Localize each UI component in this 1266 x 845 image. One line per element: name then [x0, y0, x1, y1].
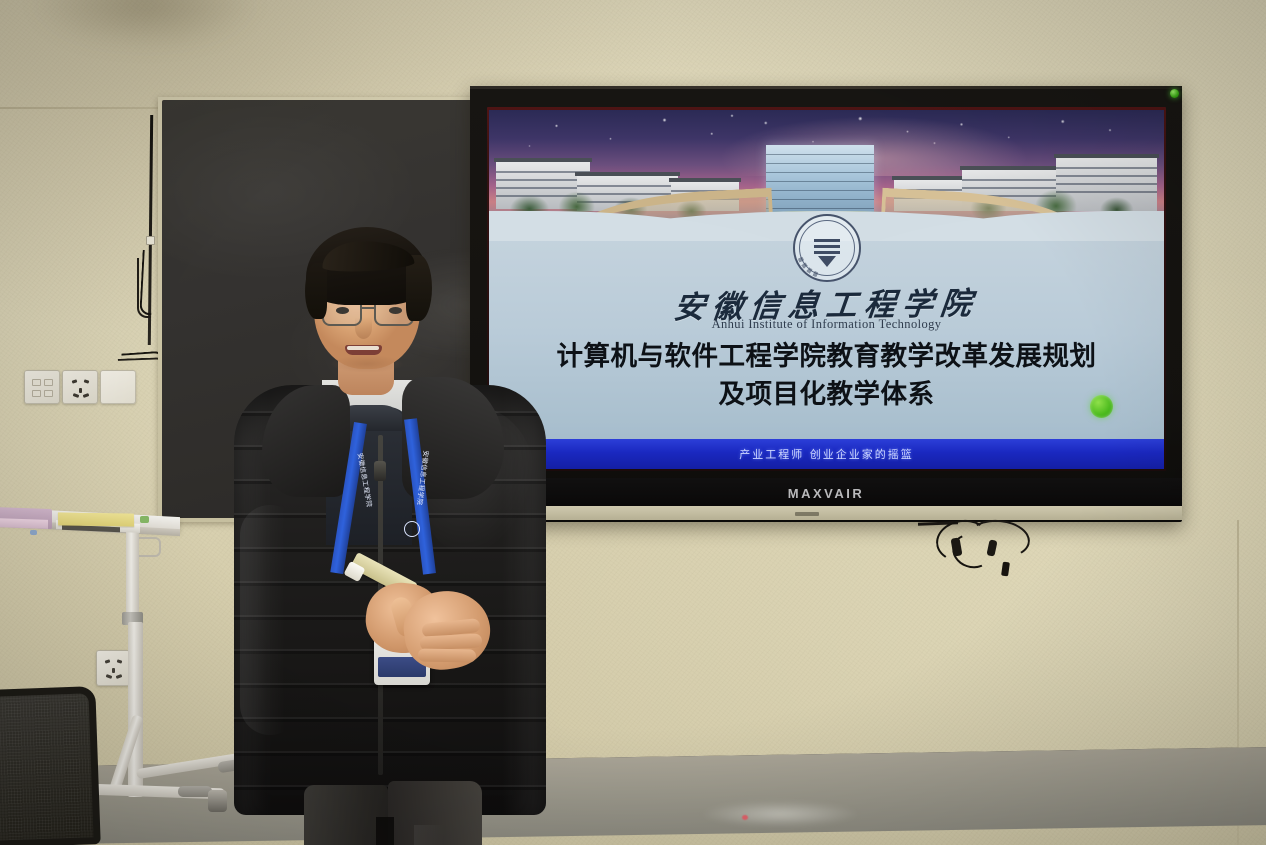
- floor-scuff: [700, 801, 860, 827]
- seal-ring-text: [795, 216, 859, 280]
- yellow-notebook[interactable]: [58, 512, 134, 526]
- pink-folder-sheet: [0, 518, 48, 529]
- hair-side-left: [305, 263, 327, 319]
- seal-chevron: [818, 256, 836, 267]
- power-led-icon: [1170, 89, 1179, 98]
- cable-clip: [146, 236, 155, 245]
- trouser-inseam-shadow: [376, 817, 394, 845]
- low-power-outlet[interactable]: [96, 650, 130, 686]
- presenter: 安徽信息工程学院 安徽信息工程学院: [226, 225, 566, 845]
- desk-small-object: [140, 516, 149, 523]
- hanging-cable: [137, 258, 151, 318]
- lectern-handle[interactable]: [139, 537, 161, 557]
- finger: [418, 648, 476, 662]
- ir-receiver-icon: [795, 512, 819, 516]
- university-seal-icon: [793, 214, 861, 282]
- presentation-slide: 安徽信息工程学院 Anhui Institute of Information …: [489, 110, 1164, 469]
- display-bottom-lip: [470, 506, 1182, 520]
- institution-name-en: Anhui Institute of Information Technolog…: [489, 317, 1164, 332]
- trouser-highlight: [414, 825, 444, 845]
- slide-footer-band: 产业工程师 创业企业家的摇篮: [489, 439, 1164, 469]
- green-badge-icon: [1090, 395, 1113, 418]
- light-switch-plate[interactable]: [24, 370, 60, 404]
- floor-debris: [742, 815, 748, 820]
- power-outlet-plate[interactable]: [62, 370, 98, 404]
- jacket-arm-highlight: [240, 505, 300, 735]
- slide-title-line-2: 及项目化教学体系: [489, 372, 1164, 411]
- lectern-caster: [208, 790, 227, 812]
- slide-slogan: 产业工程师 创业企业家的摇篮: [739, 446, 914, 462]
- display-brand-strip: MAXVAIR: [470, 478, 1182, 508]
- teeth: [347, 346, 379, 350]
- office-chair-frame: [0, 686, 101, 845]
- zipper-pull-icon: [374, 461, 386, 481]
- lanyard-seal-icon: [404, 521, 420, 537]
- lectern-caster-sleeve: [178, 786, 212, 797]
- display-brand-label: MAXVAIR: [788, 486, 864, 501]
- classroom-photo: 安徽信息工程学院 Anhui Institute of Information …: [0, 0, 1266, 845]
- eyeglasses-bridge: [361, 307, 376, 309]
- lectern-column-upper: [126, 530, 139, 618]
- desk-small-object: [30, 530, 37, 535]
- chin-shadow: [330, 355, 404, 373]
- slide-title-line-1: 计算机与软件工程学院教育教学改革发展规划: [489, 334, 1164, 373]
- display-top-edge: [470, 86, 1182, 89]
